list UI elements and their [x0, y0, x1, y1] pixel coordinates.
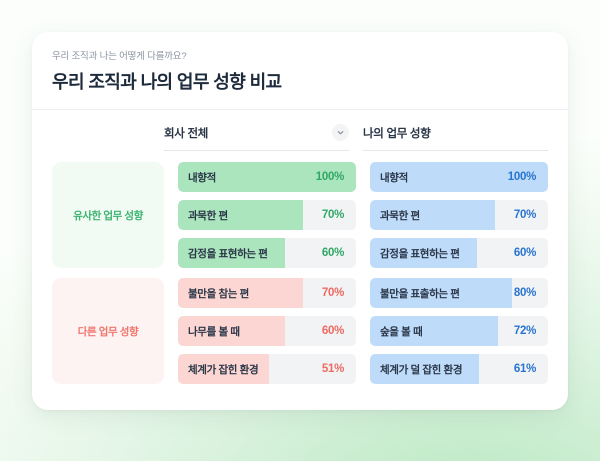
bar-label: 불만을 표출하는 편 — [370, 286, 460, 301]
group-list: 유사한 업무 성향 내향적 100% 과묵한 편 70% — [32, 162, 568, 384]
bar-value: 72% — [514, 325, 548, 337]
group-tag-different: 다른 업무 성향 — [52, 278, 164, 384]
group-different-mine-column: 불만을 표출하는 편 80% 숲을 볼 때 72% 체계가 덜 잡힌 환경 61… — [370, 278, 548, 384]
bar-value: 70% — [322, 287, 356, 299]
table-row[interactable]: 숲을 볼 때 72% — [370, 316, 548, 346]
table-row[interactable]: 불만을 표출하는 편 80% — [370, 278, 548, 308]
bar-label: 과묵한 편 — [370, 208, 420, 223]
chevron-down-icon[interactable] — [332, 124, 349, 141]
comparison-card: 우리 조직과 나는 어떻게 다를까요? 우리 조직과 나의 업무 성향 비교 회… — [32, 32, 568, 410]
bar-value: 60% — [322, 325, 356, 337]
bar-label: 체계가 잡힌 환경 — [178, 362, 258, 377]
bar-label: 체계가 덜 잡힌 환경 — [370, 362, 462, 377]
bar-value: 100% — [508, 171, 548, 183]
table-row[interactable]: 과묵한 편 70% — [178, 200, 356, 230]
card-header: 우리 조직과 나는 어떻게 다를까요? 우리 조직과 나의 업무 성향 비교 — [32, 32, 568, 95]
table-row[interactable]: 나무를 볼 때 60% — [178, 316, 356, 346]
table-row[interactable]: 감정을 표현하는 편 60% — [370, 238, 548, 268]
bar-value: 60% — [322, 247, 356, 259]
column-header-company: 회사 전체 — [164, 124, 349, 151]
bar-label: 불만을 참는 편 — [178, 286, 249, 301]
group-different-company-column: 불만을 참는 편 70% 나무를 볼 때 60% 체계가 잡힌 환경 51% — [178, 278, 356, 384]
group-gap — [164, 278, 178, 384]
column-header-mine: 나의 업무 성향 — [363, 124, 548, 151]
page-title: 우리 조직과 나의 업무 성향 비교 — [52, 69, 548, 95]
group-similar-columns: 내향적 100% 과묵한 편 70% 감정을 표현하는 편 60% — [178, 162, 548, 268]
bar-value: 61% — [514, 363, 548, 375]
bar-value: 70% — [322, 209, 356, 221]
header-divider — [32, 109, 568, 110]
bar-label: 내향적 — [370, 170, 408, 185]
table-row[interactable]: 내향적 100% — [178, 162, 356, 192]
bar-label: 내향적 — [178, 170, 216, 185]
bar-value: 80% — [514, 287, 548, 299]
group-similar-company-column: 내향적 100% 과묵한 편 70% 감정을 표현하는 편 60% — [178, 162, 356, 268]
column-header-spacer — [52, 124, 164, 151]
bar-label: 감정을 표현하는 편 — [370, 246, 460, 261]
table-row[interactable]: 체계가 잡힌 환경 51% — [178, 354, 356, 384]
bar-value: 60% — [514, 247, 548, 259]
bar-label: 감정을 표현하는 편 — [178, 246, 268, 261]
table-row[interactable]: 과묵한 편 70% — [370, 200, 548, 230]
eyebrow-text: 우리 조직과 나는 어떻게 다를까요? — [52, 50, 548, 64]
bar-value: 51% — [322, 363, 356, 375]
bar-label: 나무를 볼 때 — [178, 324, 240, 339]
group-similar: 유사한 업무 성향 내향적 100% 과묵한 편 70% — [52, 162, 548, 268]
group-different-columns: 불만을 참는 편 70% 나무를 볼 때 60% 체계가 잡힌 환경 51% — [178, 278, 548, 384]
group-similar-mine-column: 내향적 100% 과묵한 편 70% 감정을 표현하는 편 60% — [370, 162, 548, 268]
group-different: 다른 업무 성향 불만을 참는 편 70% 나무를 볼 때 60% — [52, 278, 548, 384]
table-row[interactable]: 체계가 덜 잡힌 환경 61% — [370, 354, 548, 384]
table-row[interactable]: 내향적 100% — [370, 162, 548, 192]
column-gap — [349, 124, 363, 151]
column-header-mine-label: 나의 업무 성향 — [363, 125, 430, 141]
bar-value: 70% — [514, 209, 548, 221]
bar-label: 과묵한 편 — [178, 208, 228, 223]
bar-label: 숲을 볼 때 — [370, 324, 422, 339]
bar-value: 100% — [316, 171, 356, 183]
group-tag-similar: 유사한 업무 성향 — [52, 162, 164, 268]
column-header-row: 회사 전체 나의 업무 성향 — [32, 124, 568, 151]
column-gap — [356, 278, 370, 384]
column-gap — [356, 162, 370, 268]
table-row[interactable]: 불만을 참는 편 70% — [178, 278, 356, 308]
group-gap — [164, 162, 178, 268]
column-header-company-label: 회사 전체 — [164, 125, 208, 141]
table-row[interactable]: 감정을 표현하는 편 60% — [178, 238, 356, 268]
